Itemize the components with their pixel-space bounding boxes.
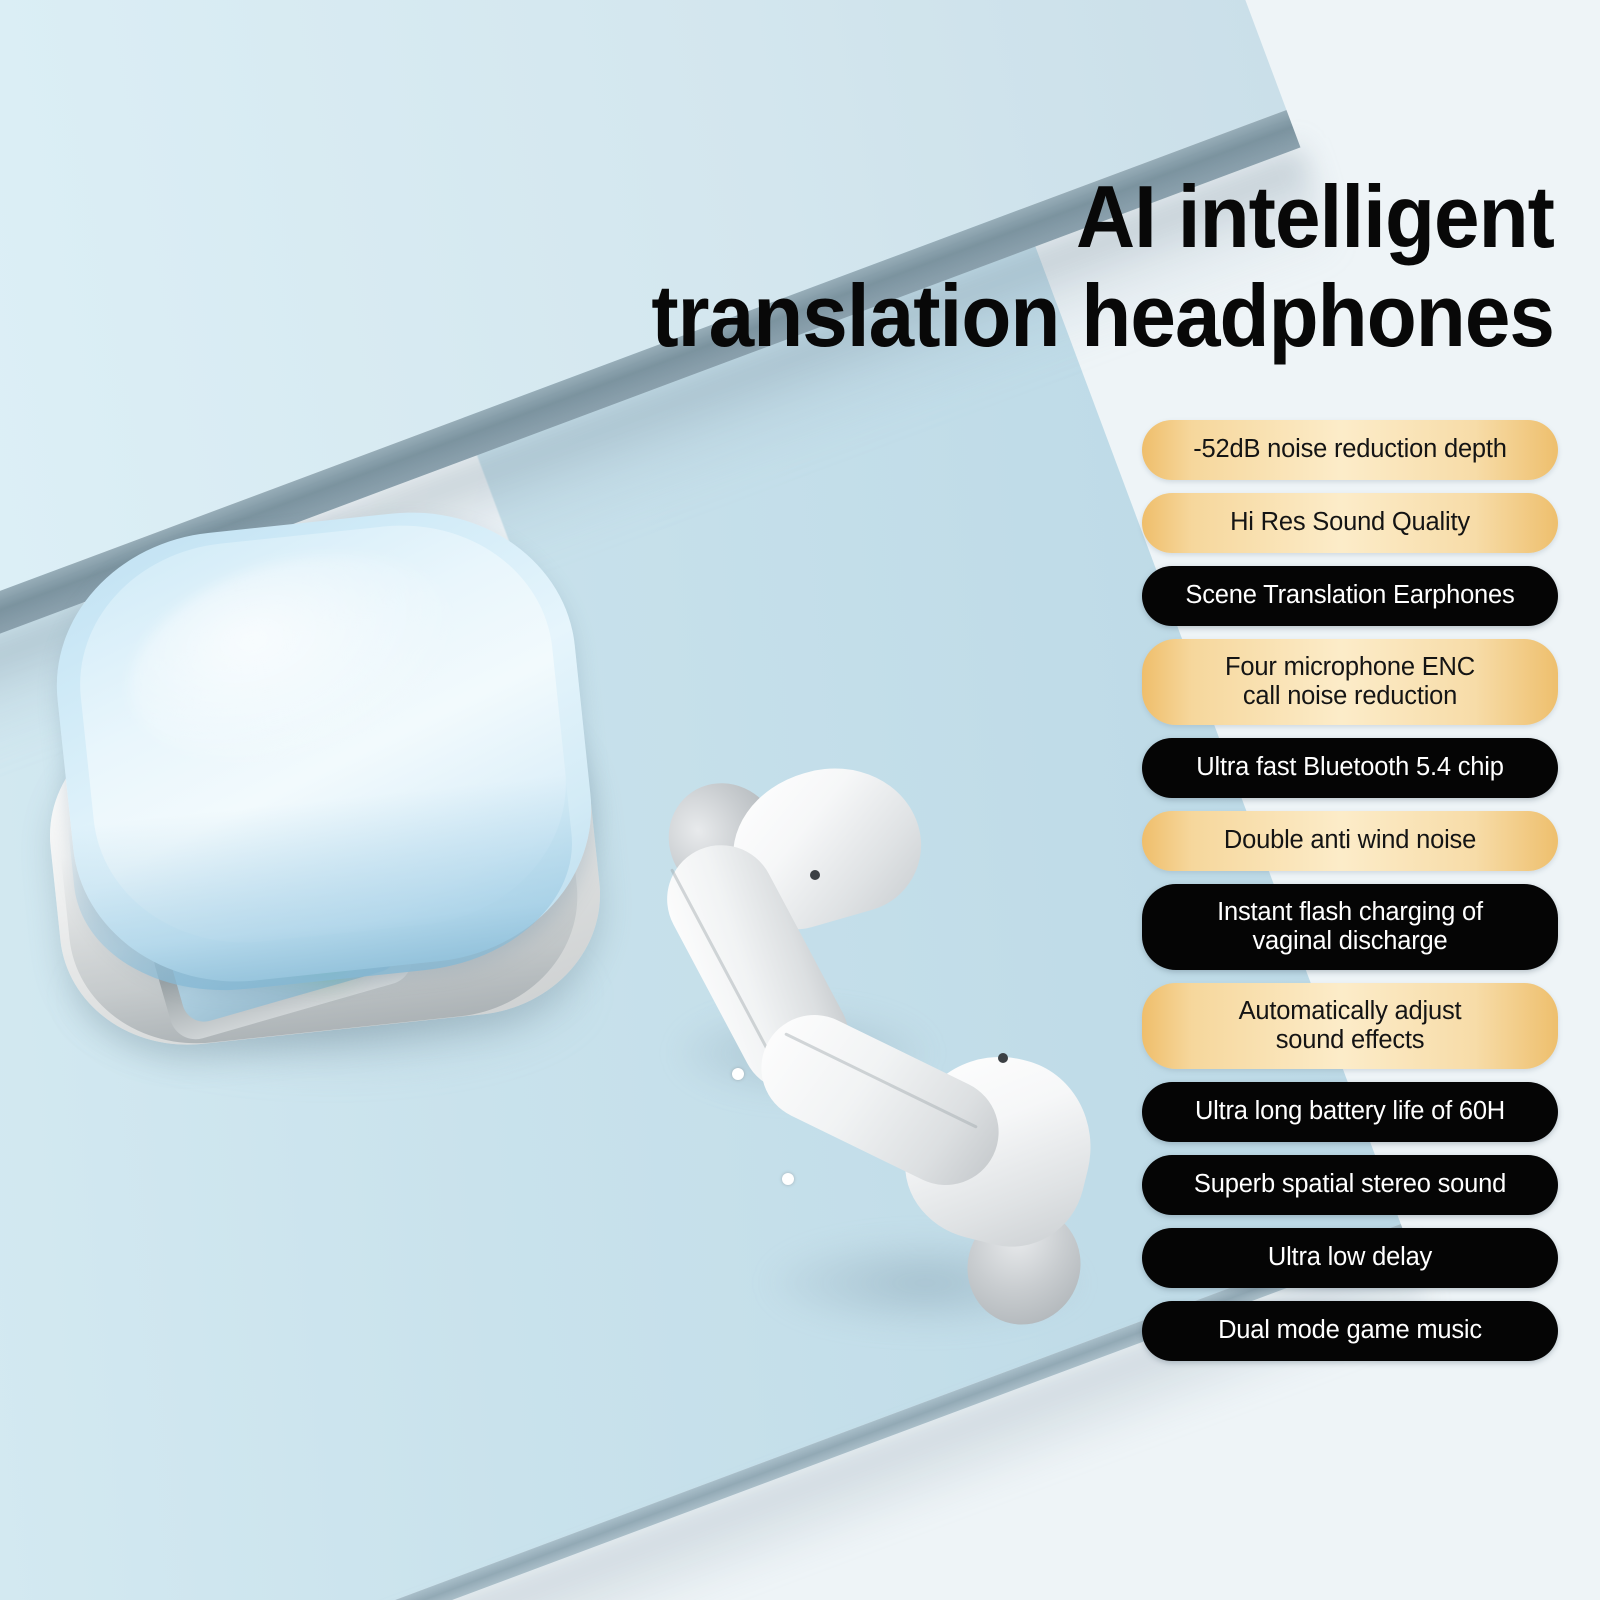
charging-case xyxy=(40,500,630,1100)
page-title-line-1: AI intelligent xyxy=(1076,167,1554,266)
feature-list: -52dB noise reduction depthHi Res Sound … xyxy=(1142,420,1558,1361)
feature-pill: Ultra fast Bluetooth 5.4 chip xyxy=(1142,738,1558,798)
feature-pill: Superb spatial stereo sound xyxy=(1142,1155,1558,1215)
earbud-right-contact-dot xyxy=(782,1173,794,1185)
feature-pill: Hi Res Sound Quality xyxy=(1142,493,1558,553)
earbud-right-mic-hole xyxy=(998,1053,1008,1063)
feature-pill: Scene Translation Earphones xyxy=(1142,566,1558,626)
feature-pill: Ultra long battery life of 60H xyxy=(1142,1082,1558,1142)
earbud-right xyxy=(740,995,1150,1335)
feature-pill: -52dB noise reduction depth xyxy=(1142,420,1558,480)
feature-pill: Ultra low delay xyxy=(1142,1228,1558,1288)
feature-pill: Instant flash charging of vaginal discha… xyxy=(1142,884,1558,970)
page-title-line-2: translation headphones xyxy=(605,267,1554,366)
feature-pill: Automatically adjust sound effects xyxy=(1142,983,1558,1069)
earbud-right-stem xyxy=(744,997,1017,1203)
feature-pill: Double anti wind noise xyxy=(1142,811,1558,871)
earbud-left-mic-hole xyxy=(810,870,820,880)
product-banner: AI intelligent translation headphones -5… xyxy=(0,0,1600,1600)
page-title: AI intelligent translation headphones xyxy=(605,168,1554,365)
feature-pill: Dual mode game music xyxy=(1142,1301,1558,1361)
feature-pill: Four microphone ENC call noise reduction xyxy=(1142,639,1558,725)
